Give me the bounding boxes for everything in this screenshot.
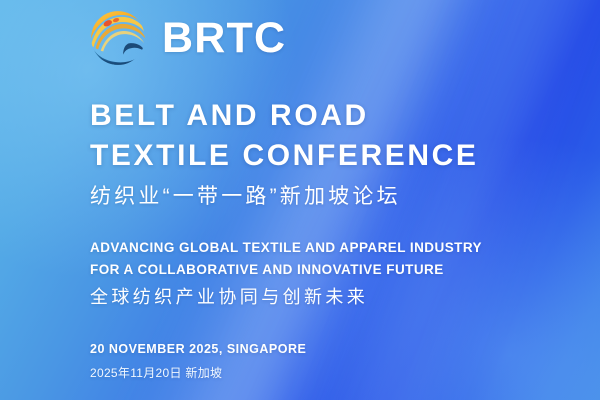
event-date-location-chinese: 2025年11月20日 新加坡 — [90, 366, 560, 382]
conference-poster: BRTC BELT AND ROAD TEXTILE CONFERENCE 纺织… — [0, 0, 600, 400]
brtc-globe-swirl-icon — [86, 6, 150, 70]
brand-lockup: BRTC — [86, 6, 286, 70]
poster-content: BELT AND ROAD TEXTILE CONFERENCE 纺织业“一带一… — [90, 96, 560, 382]
brtc-wordmark: BRTC — [162, 17, 286, 60]
conference-tagline-chinese: 全球纺织产业协同与创新未来 — [90, 287, 560, 309]
event-date-location-english: 20 NOVEMBER 2025, SINGAPORE — [90, 341, 560, 357]
conference-subtitle-chinese: 纺织业“一带一路”新加坡论坛 — [90, 184, 560, 209]
conference-tagline-line-2: FOR A COLLABORATIVE AND INNOVATIVE FUTUR… — [90, 259, 560, 281]
conference-title-line-1: BELT AND ROAD — [90, 96, 560, 136]
conference-title-line-2: TEXTILE CONFERENCE — [90, 136, 560, 176]
conference-tagline-line-1: ADVANCING GLOBAL TEXTILE AND APPAREL IND… — [90, 237, 560, 259]
